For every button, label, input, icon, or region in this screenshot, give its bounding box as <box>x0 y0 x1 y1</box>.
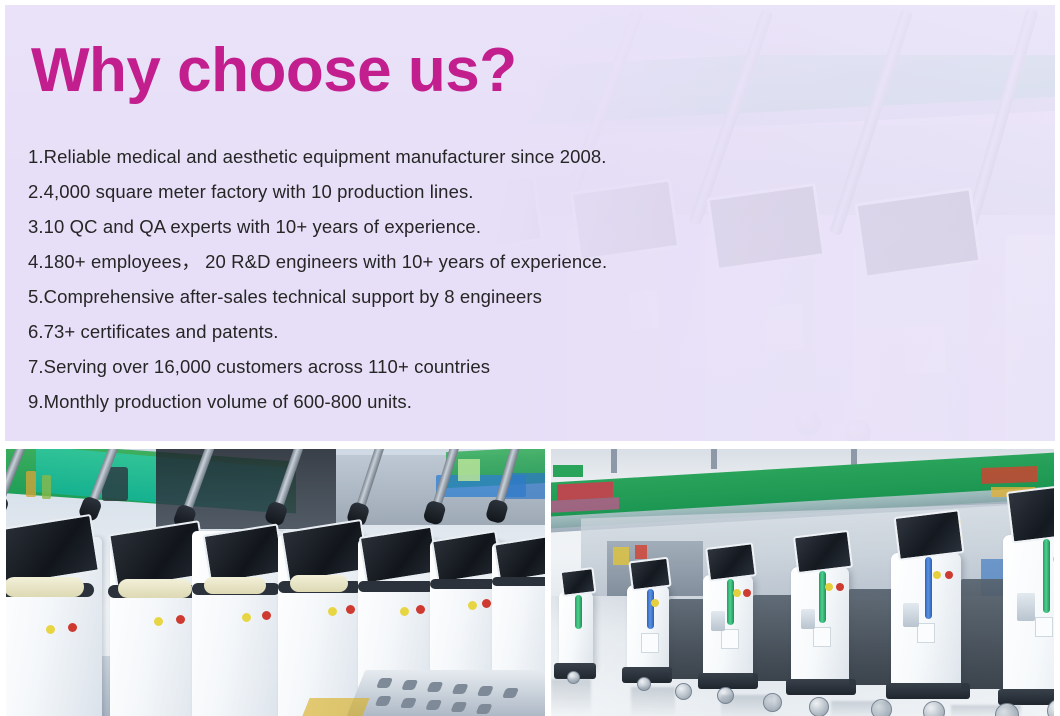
headline-panel: Why choose us? 1.Reliable medical and ae… <box>5 5 1055 441</box>
list-item: 1.Reliable medical and aesthetic equipme… <box>28 139 788 174</box>
list-item-text: Monthly production volume of 600-800 uni… <box>44 391 412 412</box>
photo-production-line-left <box>6 449 545 716</box>
list-item-number: 1. <box>28 146 44 167</box>
list-item-number: 6. <box>28 321 44 342</box>
list-item-text: 180+ employees， 20 R&D engineers with 10… <box>44 251 608 272</box>
list-item-number: 2. <box>28 181 44 202</box>
list-item: 5.Comprehensive after-sales technical su… <box>28 279 788 314</box>
why-choose-us-slide: Why choose us? 1.Reliable medical and ae… <box>0 0 1060 716</box>
list-item: 6.73+ certificates and patents. <box>28 314 788 349</box>
list-item-text: 4,000 square meter factory with 10 produ… <box>44 181 474 202</box>
list-item-number: 4. <box>28 251 44 272</box>
list-item: 9.Monthly production volume of 600-800 u… <box>28 384 788 419</box>
list-item-number: 3. <box>28 216 44 237</box>
list-item: 7.Serving over 16,000 customers across 1… <box>28 349 788 384</box>
list-item-text: 10 QC and QA experts with 10+ years of e… <box>44 216 481 237</box>
list-item: 2.4,000 square meter factory with 10 pro… <box>28 174 788 209</box>
list-item: 3.10 QC and QA experts with 10+ years of… <box>28 209 788 244</box>
list-item-text: 73+ certificates and patents. <box>44 321 279 342</box>
photo-assembly-line-right <box>551 449 1054 716</box>
list-item-number: 5. <box>28 286 44 307</box>
list-item-text: Comprehensive after-sales technical supp… <box>44 286 542 307</box>
list-item-text: Serving over 16,000 customers across 110… <box>44 356 490 377</box>
benefits-list: 1.Reliable medical and aesthetic equipme… <box>28 139 788 419</box>
list-item-number: 9. <box>28 391 44 412</box>
page-title: Why choose us? <box>31 35 517 106</box>
photo-row <box>0 449 1060 716</box>
list-item-number: 7. <box>28 356 44 377</box>
list-item-text: Reliable medical and aesthetic equipment… <box>44 146 607 167</box>
list-item: 4.180+ employees， 20 R&D engineers with … <box>28 244 788 279</box>
